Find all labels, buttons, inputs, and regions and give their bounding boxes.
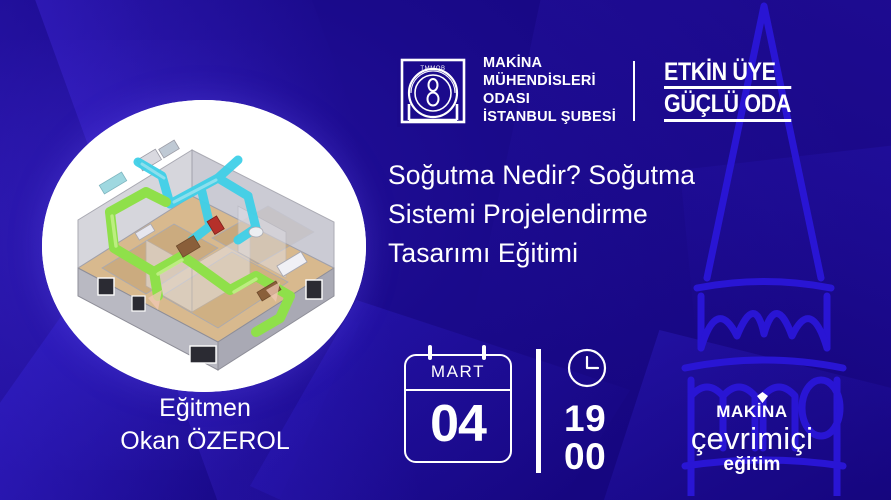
event-time-minutes: 00	[564, 438, 608, 476]
organization-name: MAKİNA MÜHENDİSLERİ ODASI İSTANBUL ŞUBES…	[483, 55, 616, 126]
brand-line-2: çevrimiçi	[669, 423, 835, 455]
org-line-4: İSTANBUL ŞUBESİ	[483, 109, 616, 127]
event-time-hours: 19	[564, 400, 608, 438]
brand-line-1: MAKİNA	[716, 402, 788, 421]
hvac-duct-diagram	[42, 100, 366, 392]
organization-header: TMMOB MAKİNA MÜHENDİSLERİ ODASI İSTANBUL…	[396, 54, 812, 128]
slogan-line-1: ETKİN ÜYE	[664, 59, 791, 90]
org-line-1: MAKİNA	[483, 55, 616, 73]
brand-line-1-wrap: MAKİNA	[669, 403, 835, 420]
svg-text:TMMOB: TMMOB	[420, 66, 445, 72]
calendar-ring-left	[428, 345, 432, 360]
dotted-divider	[536, 349, 542, 473]
calendar-rings	[404, 345, 512, 359]
org-line-2: MÜHENDİSLERİ	[483, 73, 616, 91]
header-divider	[633, 61, 635, 121]
slogan-line-2: GÜÇLÜ ODA	[664, 91, 791, 122]
organization-slogan: ETKİN ÜYE GÜÇLÜ ODA	[664, 59, 791, 124]
clock-icon	[566, 347, 608, 389]
event-day: 04	[406, 391, 510, 461]
event-month: MART	[406, 356, 510, 391]
instructor-name: Okan ÖZEROL	[60, 425, 350, 458]
calendar-ring-right	[482, 345, 486, 360]
title-line-3: Tasarımı Eğitimi	[388, 234, 788, 273]
diamond-icon	[757, 392, 768, 403]
instructor-block: Eğitmen Okan ÖZEROL	[60, 392, 350, 459]
event-title: Soğutma Nedir? Soğutma Sistemi Projelend…	[388, 156, 788, 274]
title-line-2: Sistemi Projelendirme	[388, 195, 788, 234]
calendar-icon: MART 04	[404, 345, 512, 463]
org-line-3: ODASI	[483, 91, 616, 109]
event-time: 19 00	[564, 345, 608, 475]
brand-line-3: eğitim	[669, 455, 835, 476]
brand-lockup: MAKİNA çevrimiçi eğitim	[669, 403, 835, 477]
instructor-role: Eğitmen	[60, 392, 350, 425]
tmmob-emblem: TMMOB	[396, 54, 470, 128]
event-poster: TMMOB MAKİNA MÜHENDİSLERİ ODASI İSTANBUL…	[0, 0, 891, 500]
event-datetime: MART 04 19 00	[404, 345, 608, 475]
calendar-body: MART 04	[404, 354, 512, 463]
title-line-1: Soğutma Nedir? Soğutma	[388, 156, 788, 195]
hvac-illustration	[42, 100, 366, 392]
